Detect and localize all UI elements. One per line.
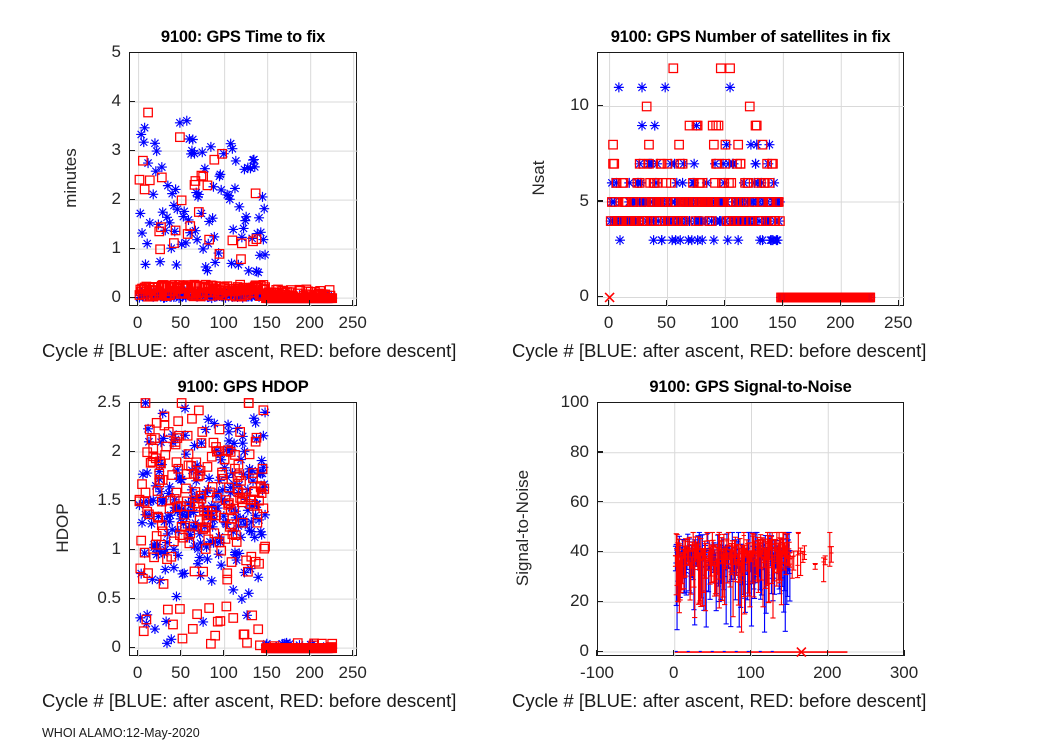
xtick-mark-snr-1 — [673, 650, 674, 656]
xtick-snr-3: 200 — [813, 663, 841, 683]
ytick-mark-snr-1 — [597, 601, 603, 602]
xtick-mark-snr-0 — [596, 650, 597, 656]
xtick-snr-0: -100 — [580, 663, 614, 683]
ytick-mark-snr-2 — [597, 551, 603, 552]
xtick-mark-snr-2 — [750, 650, 751, 656]
xlabel-snr: Cycle # [BLUE: after ascent, RED: before… — [512, 690, 926, 712]
xtick-snr-4: 300 — [890, 663, 918, 683]
ytick-snr-1: 20 — [535, 591, 589, 611]
series-snr-before-descent — [673, 532, 834, 632]
xtick-mark-snr-4 — [903, 650, 904, 656]
ytick-mark-snr-5 — [597, 402, 603, 403]
panel-snr: 9100: GPS Signal-to-Noise020406080100-10… — [0, 0, 1050, 750]
gps-diagnostics-figure: 9100: GPS Time to fix0123450501001502002… — [0, 0, 1050, 750]
xtick-mark-snr-3 — [827, 650, 828, 656]
xtick-snr-2: 100 — [736, 663, 764, 683]
ytick-mark-snr-4 — [597, 451, 603, 452]
xtick-snr-1: 0 — [669, 663, 678, 683]
ytick-snr-0: 0 — [535, 641, 589, 661]
ylabel-snr: Signal-to-Noise — [513, 428, 533, 628]
ytick-mark-snr-0 — [597, 651, 603, 652]
ytick-mark-snr-3 — [597, 501, 603, 502]
ytick-snr-5: 100 — [535, 392, 589, 412]
ytick-snr-3: 60 — [535, 492, 589, 512]
ytick-snr-2: 40 — [535, 541, 589, 561]
footer-credit: WHOI ALAMO:12-May-2020 — [42, 726, 200, 740]
plot-canvas-snr — [598, 403, 905, 657]
chart-title-snr: 9100: GPS Signal-to-Noise — [597, 378, 904, 397]
axes-snr — [597, 402, 904, 656]
ytick-snr-4: 80 — [535, 442, 589, 462]
